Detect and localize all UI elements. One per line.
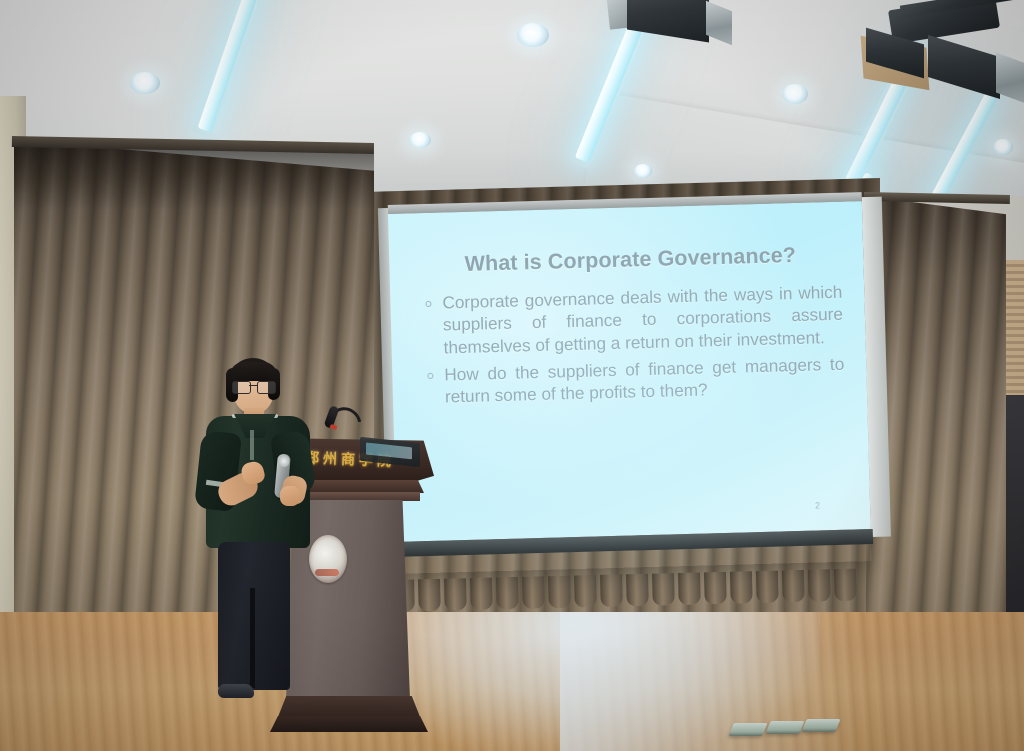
speaker-leg-gap <box>250 588 255 688</box>
floor-socket-3 <box>801 719 840 732</box>
downlight-icon-6 <box>993 139 1013 155</box>
curtain-fold <box>444 578 467 611</box>
podium-name-char-3: 商 <box>341 449 356 470</box>
slide-bullet-list: Corporate governance deals with the ways… <box>420 281 845 409</box>
curtain-fold <box>470 578 493 611</box>
glasses-bridge <box>249 385 257 386</box>
projection-screen: What is Corporate Governance? Corporate … <box>388 201 872 574</box>
glasses-lens-left <box>232 381 251 394</box>
speaker-hand-right <box>280 486 300 506</box>
curtain-fold <box>626 574 649 607</box>
downlight-icon-2 <box>517 23 549 47</box>
floor-socket-1 <box>728 723 767 736</box>
slide-page-number: 2 <box>815 500 820 510</box>
curtain-fold <box>730 571 753 604</box>
curtain-fold <box>652 573 675 606</box>
curtain-fold <box>574 575 597 608</box>
lecture-hall-photo: What is Corporate Governance? Corporate … <box>0 0 1024 751</box>
slide-bullet-2: How do the suppliers of finance get mana… <box>422 353 845 409</box>
speaker-shoe <box>218 684 254 698</box>
floor-socket-2 <box>765 721 804 734</box>
downlight-icon-1 <box>130 72 160 94</box>
downlight-icon-3 <box>409 132 431 148</box>
curtain-fold <box>756 571 779 604</box>
slide-content: What is Corporate Governance? Corporate … <box>388 201 871 542</box>
downlight-icon-5 <box>782 84 808 104</box>
curtain-fold <box>782 570 805 603</box>
curtain-fold <box>522 576 545 609</box>
speaker-person <box>190 358 330 708</box>
curtain-fold <box>548 576 571 609</box>
slide-bullet-1: Corporate governance deals with the ways… <box>420 281 844 359</box>
curtain-fold <box>808 569 831 602</box>
podium-base-plinth <box>270 716 428 732</box>
curtain-fold <box>678 572 701 605</box>
glasses-lens-right <box>257 381 276 394</box>
slide-surface: What is Corporate Governance? Corporate … <box>388 201 871 542</box>
curtain-fold <box>600 574 623 607</box>
curtain-fold <box>704 572 727 605</box>
slide-title: What is Corporate Governance? <box>419 242 842 278</box>
downlight-icon-4 <box>634 164 652 178</box>
glasses-icon <box>232 381 276 392</box>
speaker-shirt-placket <box>250 430 254 460</box>
curtain-fold <box>496 577 519 610</box>
curtain-fold <box>834 569 857 602</box>
